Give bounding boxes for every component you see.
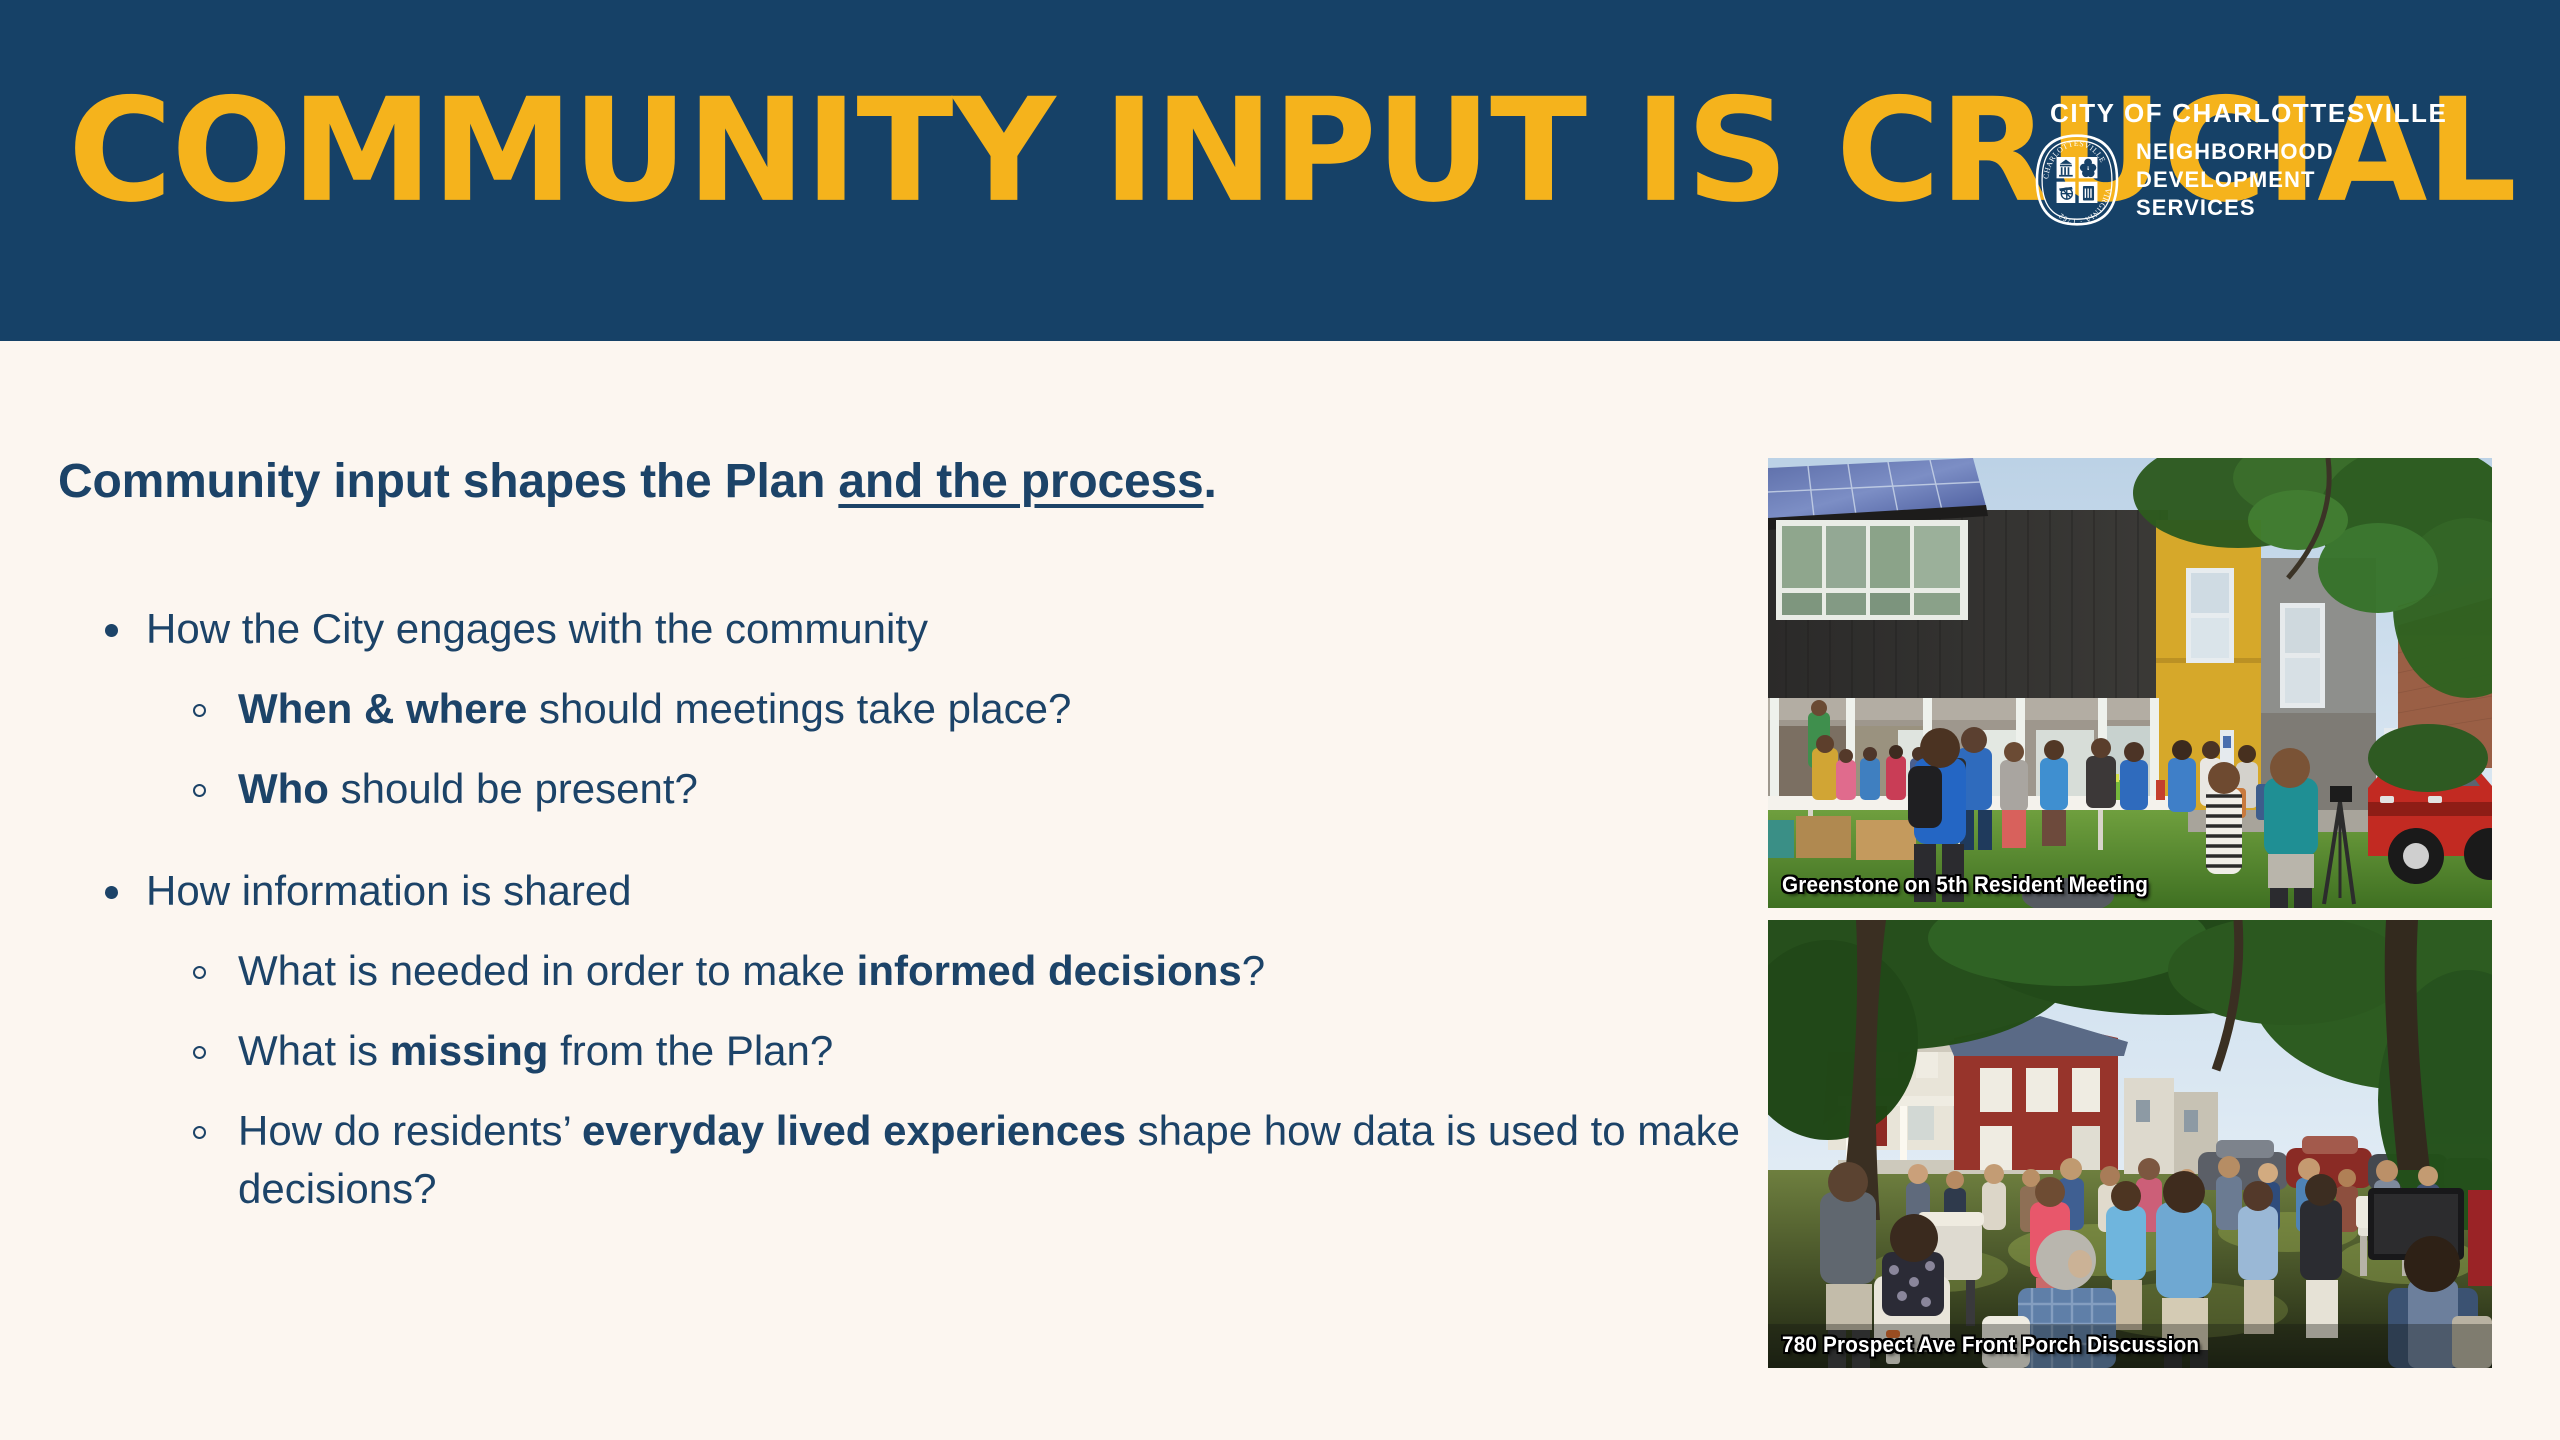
bullet-level2-pre: What is	[238, 1027, 390, 1074]
bullet-circle-icon	[193, 784, 206, 797]
bullet-level2-bold: When & where	[238, 685, 527, 732]
bullet-level1: How the City engages with the community	[58, 600, 1748, 658]
bullet-level2-rest: ?	[1242, 947, 1265, 994]
bullet-level2-rest: should meetings take place?	[527, 685, 1071, 732]
bullet-circle-icon	[193, 966, 206, 979]
greenstone-photo-graphic	[1768, 458, 2492, 908]
photo-caption-prospect: 780 Prospect Ave Front Porch Discussion	[1782, 1332, 2199, 1358]
bullet-level1-label: How the City engages with the community	[146, 605, 928, 652]
bullet-level2: How do residents’ everyday lived experie…	[58, 1102, 1748, 1218]
photo-caption-greenstone: Greenstone on 5th Resident Meeting	[1782, 872, 2148, 898]
bullet-group: How the City engages with the community …	[58, 600, 1748, 818]
bullet-level2-pre: How do residents’	[238, 1107, 582, 1154]
lead-statement: Community input shapes the Plan and the …	[58, 452, 1738, 512]
bullet-level2-bold: Who	[238, 765, 329, 812]
lead-plain-text: Community input shapes the Plan	[58, 455, 838, 508]
bullet-disc-icon	[105, 624, 118, 637]
bullet-level1: How information is shared	[58, 862, 1748, 920]
logo-city-line: CITY OF CHARLOTTESVILLE	[2050, 98, 2447, 129]
bullet-level2-bold: informed decisions	[857, 947, 1242, 994]
charlottesville-seal-icon: CHARLOTTESVILLE VIRGINIA · 1762	[2034, 134, 2120, 226]
page-title: COMMUNITY INPUT IS CRUCIAL	[68, 76, 2215, 239]
bullet-level2: What is missing from the Plan?	[58, 1022, 1748, 1080]
bullet-level2: When & where should meetings take place?	[58, 680, 1748, 738]
city-logo-block: CITY OF CHARLOTTESVILLE CHARLOTTESVILLE …	[2040, 98, 2500, 238]
greenstone-meeting-photo: Greenstone on 5th Resident Meeting	[1768, 458, 2492, 908]
bullet-circle-icon	[193, 1126, 206, 1139]
bullet-level2-bold: everyday lived experiences	[582, 1107, 1126, 1154]
bullet-level2: Who should be present?	[58, 760, 1748, 818]
lead-underlined-text: and the process	[838, 455, 1203, 508]
slide: COMMUNITY INPUT IS CRUCIAL CITY OF CHARL…	[0, 0, 2560, 1440]
lead-period: .	[1203, 455, 1216, 508]
logo-dept-line-2: DEVELOPMENT	[2136, 166, 2334, 194]
logo-dept-line-1: NEIGHBORHOOD	[2136, 138, 2334, 166]
logo-department-lines: NEIGHBORHOOD DEVELOPMENT SERVICES	[2136, 138, 2334, 222]
prospect-photo-graphic	[1768, 920, 2492, 1368]
bullet-list: How the City engages with the community …	[58, 600, 1748, 1218]
header-band: COMMUNITY INPUT IS CRUCIAL CITY OF CHARL…	[0, 0, 2560, 341]
bullet-group: How information is shared What is needed…	[58, 862, 1748, 1218]
bullet-level2: What is needed in order to make informed…	[58, 942, 1748, 1000]
bullet-level2-pre: What is needed in order to make	[238, 947, 857, 994]
bullet-disc-icon	[105, 886, 118, 899]
bullet-level1-label: How information is shared	[146, 867, 632, 914]
logo-dept-line-3: SERVICES	[2136, 194, 2334, 222]
bullet-circle-icon	[193, 1046, 206, 1059]
bullet-circle-icon	[193, 704, 206, 717]
bullet-level2-rest: from the Plan?	[548, 1027, 833, 1074]
prospect-ave-photo: 780 Prospect Ave Front Porch Discussion	[1768, 920, 2492, 1368]
bullet-level2-rest: should be present?	[329, 765, 698, 812]
bullet-level2-bold: missing	[390, 1027, 549, 1074]
